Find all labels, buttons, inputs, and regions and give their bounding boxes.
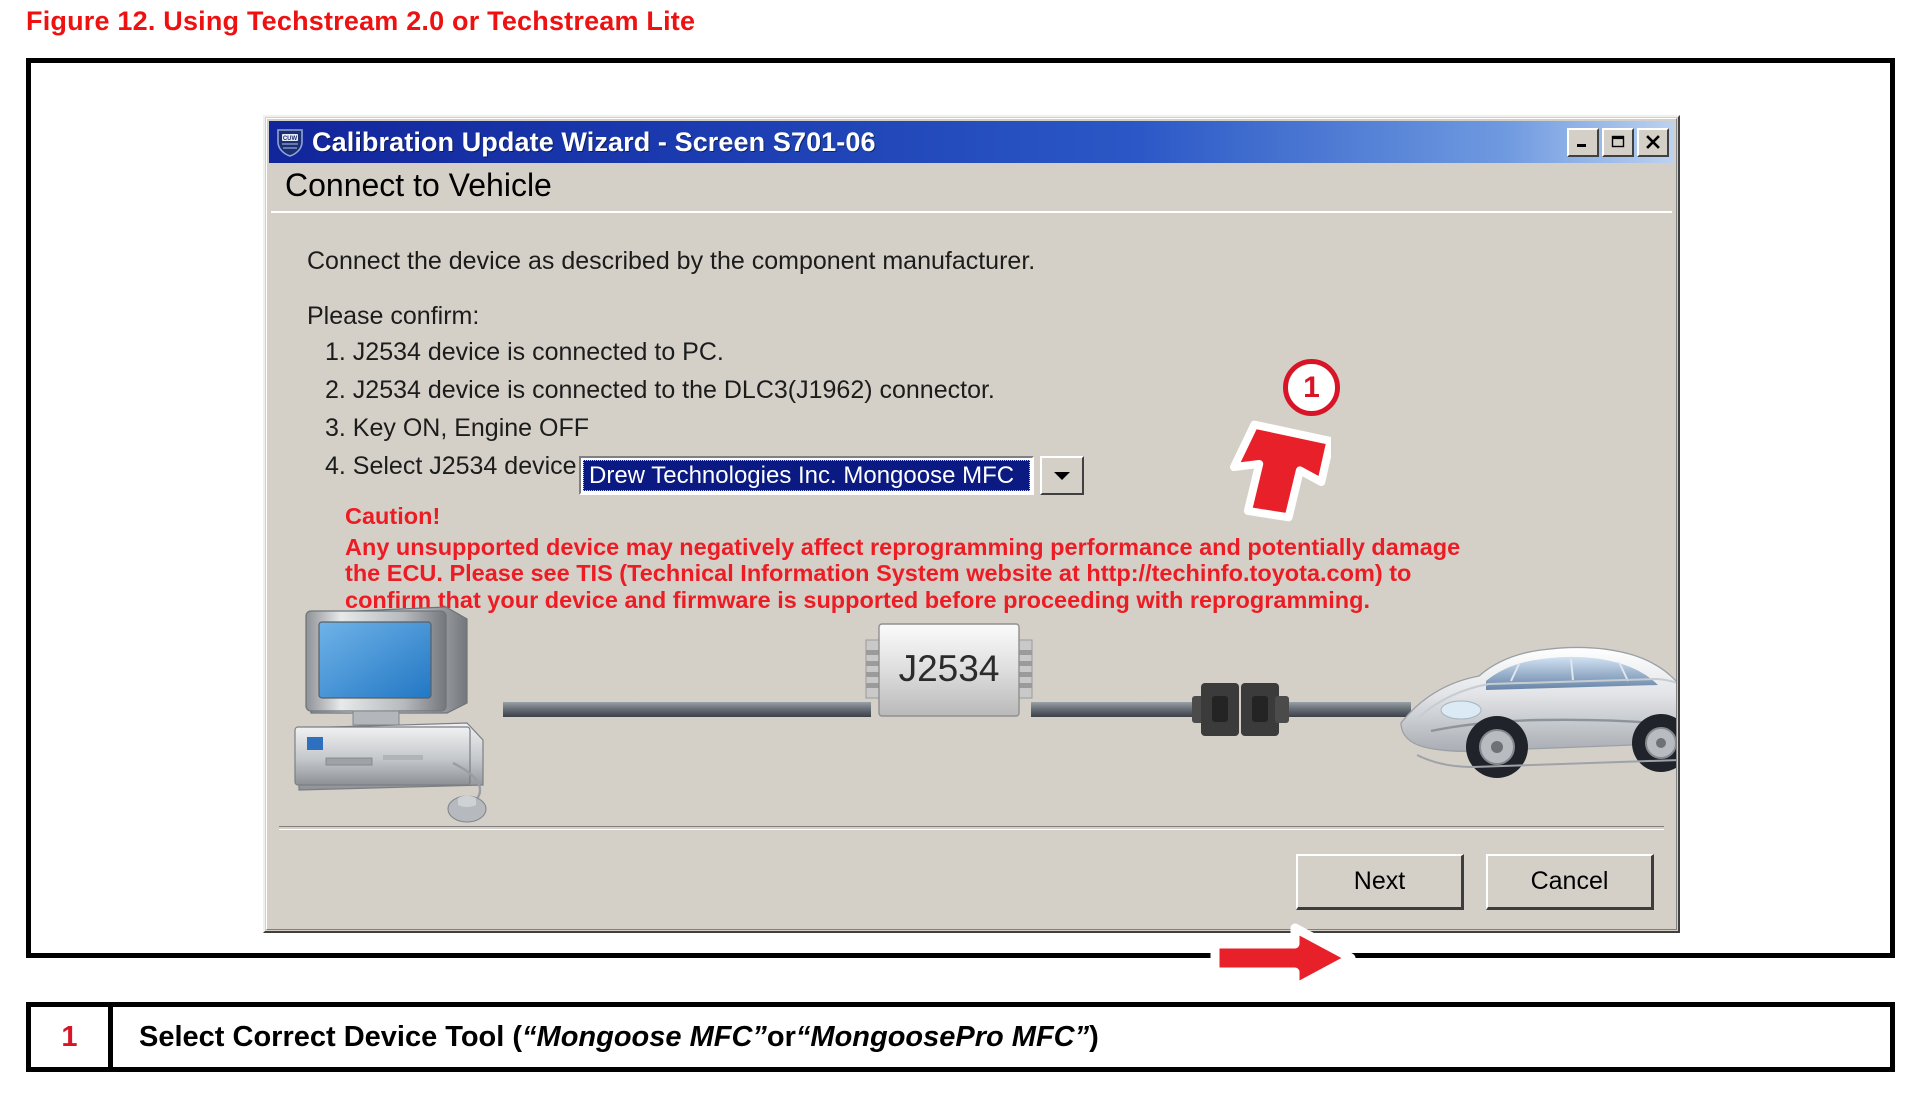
legend-text-part: Select Correct Device Tool ( [139, 1021, 522, 1054]
connection-illustration: J2534 [271, 595, 1672, 835]
window-controls [1567, 128, 1669, 157]
j2534-device-illustration: J2534 [866, 624, 1032, 716]
svg-text:CUW: CUW [283, 136, 298, 142]
list-item: 1. J2534 device is connected to PC. [325, 333, 995, 371]
dialog-inner-bevel: CUW Calibration Update Wizard - Screen S… [266, 118, 1677, 930]
intro-text: Connect the device as described by the c… [307, 247, 1035, 276]
confirm-heading: Please confirm: [307, 302, 479, 331]
dlc3-connector-illustration [1192, 683, 1289, 736]
maximize-icon[interactable] [1602, 128, 1634, 157]
caution-line: Any unsupported device may negatively af… [345, 534, 1460, 561]
calibration-update-wizard-dialog: CUW Calibration Update Wizard - Screen S… [263, 115, 1680, 933]
legend-table: 1 Select Correct Device Tool (“Mongoose … [26, 1002, 1895, 1072]
legend-description: Select Correct Device Tool (“Mongoose MF… [113, 1007, 1890, 1067]
figure-frame: CUW Calibration Update Wizard - Screen S… [26, 58, 1895, 958]
j2534-device-tool-combobox[interactable]: Drew Technologies Inc. Mongoose MFC [579, 456, 1084, 495]
dialog-titlebar[interactable]: CUW Calibration Update Wizard - Screen S… [269, 121, 1674, 163]
dialog-header-strip: Connect to Vehicle [271, 165, 1672, 213]
legend-text-italic: “MongoosePro MFC” [796, 1021, 1089, 1054]
legend-text-part: ) [1089, 1021, 1099, 1054]
dialog-body: Connect the device as described by the c… [271, 215, 1672, 925]
dialog-title-text: Calibration Update Wizard - Screen S701-… [312, 127, 876, 158]
desktop-computer-illustration [295, 607, 486, 822]
combobox-selected-value[interactable]: Drew Technologies Inc. Mongoose MFC [583, 460, 1030, 491]
sedan-vehicle-illustration [1401, 647, 1676, 778]
dialog-button-bar: Next Cancel [1296, 854, 1654, 910]
cancel-button[interactable]: Cancel [1486, 854, 1654, 910]
page-title: Connect to Vehicle [285, 167, 552, 204]
caution-heading: Caution! [345, 503, 1460, 530]
legend-number: 1 [31, 1007, 113, 1067]
list-item: 3. Key ON, Engine OFF [325, 409, 995, 447]
figure-title: Figure 12. Using Techstream 2.0 or Techs… [26, 6, 695, 37]
list-item: 2. J2534 device is connected to the DLC3… [325, 371, 995, 409]
combobox-field[interactable]: Drew Technologies Inc. Mongoose MFC [579, 456, 1034, 495]
button-separator [279, 826, 1664, 830]
callout-badge-1: 1 [1283, 359, 1340, 416]
close-icon[interactable] [1637, 128, 1669, 157]
minimize-icon[interactable] [1567, 128, 1599, 157]
svg-text:J2534: J2534 [899, 648, 1000, 689]
legend-text-italic: “Mongoose MFC” [522, 1021, 767, 1054]
next-button[interactable]: Next [1296, 854, 1464, 910]
caution-line: the ECU. Please see TIS (Technical Infor… [345, 560, 1460, 587]
chevron-down-icon[interactable] [1040, 456, 1084, 495]
legend-text-part: or [767, 1021, 796, 1054]
cuw-shield-icon: CUW [275, 127, 305, 157]
